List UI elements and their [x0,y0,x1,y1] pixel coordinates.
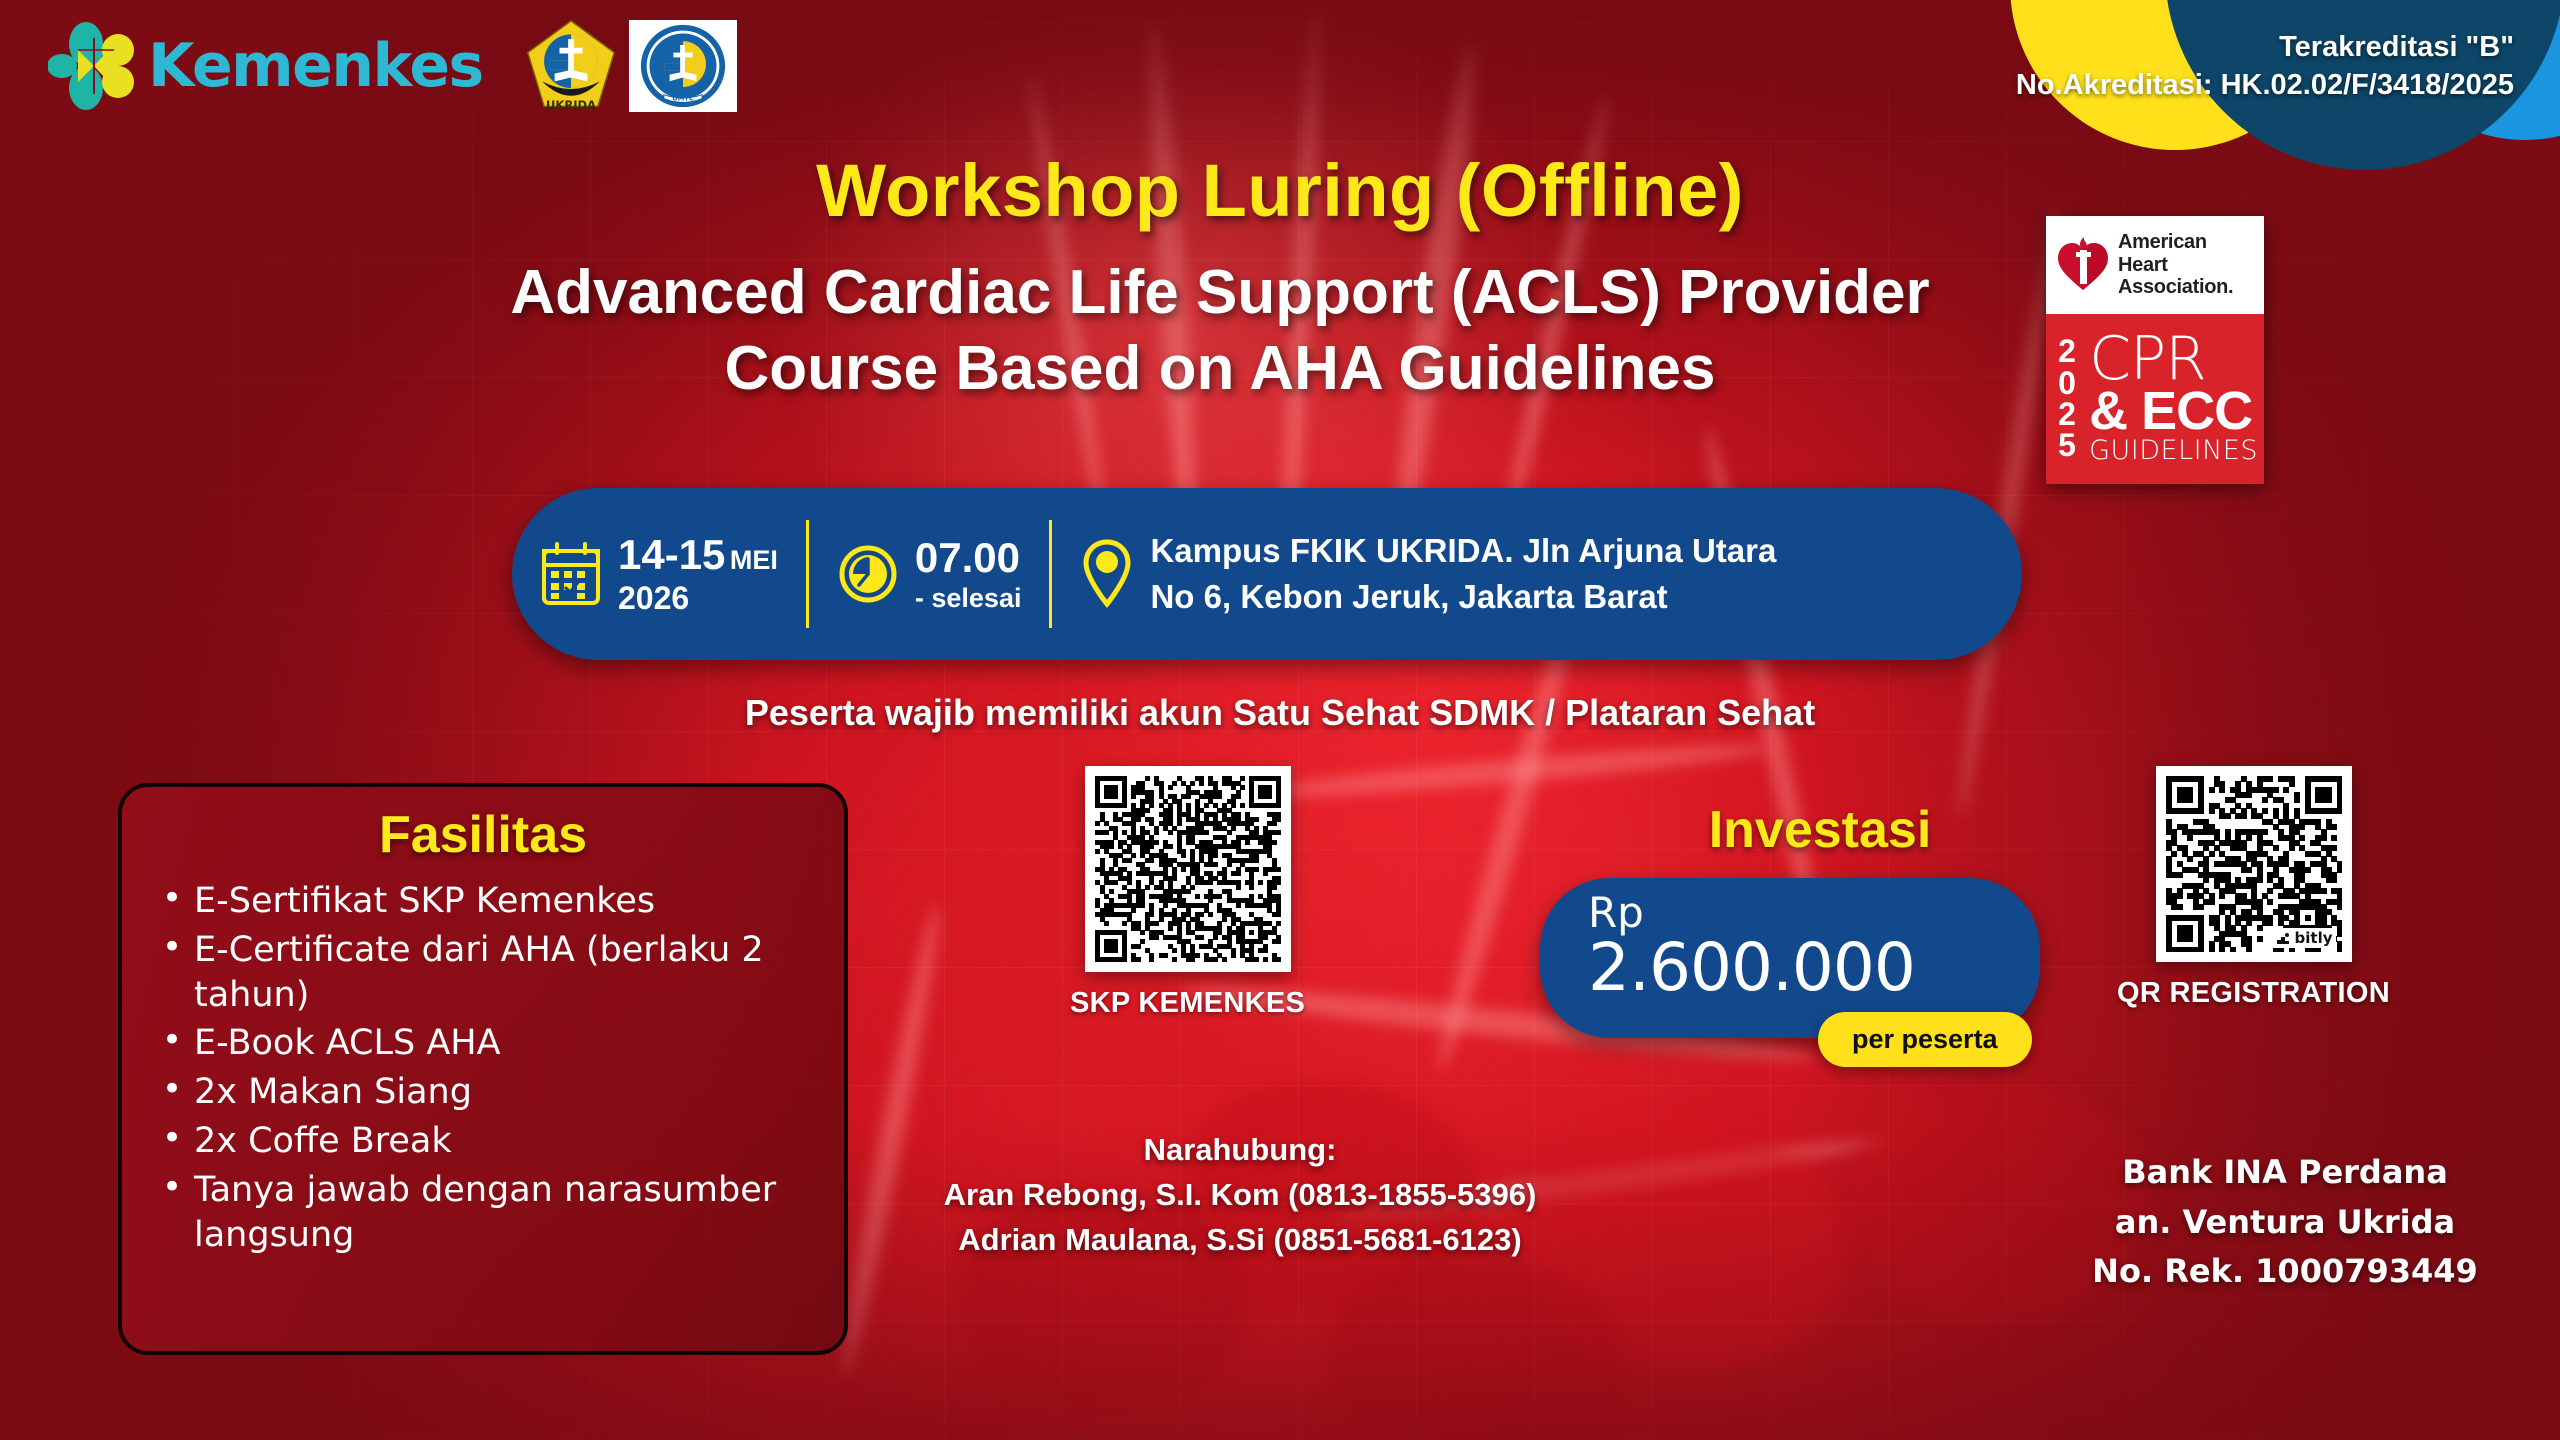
contact-heading: Narahubung: [860,1128,1620,1173]
aha-guidelines-body: 2025 CPR & ECC GUIDELINES [2046,314,2264,484]
date-month: MEI [730,545,778,575]
currency-label: Rp [1588,892,2040,934]
date-days: 14-15 [618,531,725,578]
list-item: Tanya jawab dengan narasumber langsung [148,1168,818,1258]
bank-details: Bank INA Perdana an. Ventura Ukrida No. … [2050,1148,2520,1297]
bitly-logo-icon [2276,932,2292,945]
venue-line-2: No 6, Kebon Jeruk, Jakarta Barat [1150,574,1776,620]
time-segment: 07.00 - selesai [809,533,1050,614]
ukrida-logo-icon: UKRIDA [523,18,619,114]
price-amount: 2.600.000 [1588,934,2040,1003]
aha-guidelines-text: CPR & ECC GUIDELINES [2089,314,2264,484]
bitly-text: bitly [2295,929,2333,947]
accreditation-status: Terakreditasi "B" [2016,28,2514,66]
price-pill: Rp 2.600.000 per peserta [1540,878,2040,1038]
date-text: 14-15 MEI 2026 [618,530,778,617]
kemenkes-logo-icon [48,16,138,116]
bank-account-number: No. Rek. 1000793449 [2050,1247,2520,1297]
aha-org-line3: Association. [2118,276,2233,298]
venue-segment: Kampus FKIK UKRIDA. Jln Arjuna Utara No … [1052,528,1804,619]
logo-row: Kemenkes UKRIDA [48,16,737,116]
skp-qr-card[interactable] [1085,766,1291,972]
list-item: E-Book ACLS AHA [148,1021,818,1066]
participant-notice: Peserta wajib memiliki akun Satu Sehat S… [0,692,2560,734]
registration-qr-block: bitly QR REGISTRATION [2117,766,2390,1010]
contact-person-2: Adrian Maulana, S.Si (0851-5681-6123) [860,1218,1620,1263]
contact-block: Narahubung: Aran Rebong, S.I. Kom (0813-… [860,1128,1620,1263]
aha-guidelines-badge: American Heart Association. 2025 CPR & E… [2046,216,2264,484]
clock-icon [837,543,899,605]
aha-year-vertical: 2025 [2046,314,2089,484]
list-item: E-Certificate dari AHA (berlaku 2 tahun) [148,928,818,1018]
time-start: 07.00 [915,533,1022,583]
per-participant-badge: per peserta [1818,1012,2032,1067]
contact-person-1: Aran Rebong, S.I. Kom (0813-1855-5396) [860,1173,1620,1218]
venue-address: Kampus FKIK UKRIDA. Jln Arjuna Utara No … [1150,528,1776,619]
date-segment: 14-15 MEI 2026 [512,530,806,617]
skp-qr-label: SKP KEMENKES [1070,987,1305,1020]
aha-ecc-label: & ECC [2089,386,2258,437]
aha-logo-header: American Heart Association. [2046,216,2264,314]
accreditation-number: No.Akreditasi: HK.02.02/F/3418/2025 [2016,66,2514,104]
aha-org-line2: Heart [2118,254,2233,276]
list-item: E-Sertifikat SKP Kemenkes [148,879,818,924]
aha-cpr-label: CPR [2089,333,2258,386]
calendar-icon [540,541,602,607]
list-item: 2x Makan Siang [148,1070,818,1115]
title-line-1: Advanced Cardiac Life Support (ACLS) Pro… [180,255,2260,331]
aha-org-name: American Heart Association. [2118,231,2233,298]
venue-line-1: Kampus FKIK UKRIDA. Jln Arjuna Utara [1150,528,1776,574]
title-line-2: Course Based on AHA Guidelines [180,331,2260,407]
umtc-logo-icon: UMTC [629,20,737,112]
registration-qr-code[interactable] [2166,776,2342,952]
time-end: - selesai [915,583,1022,615]
aha-guidelines-label: GUIDELINES [2089,437,2258,465]
kemenkes-wordmark: Kemenkes [148,36,483,96]
investment-block: Investasi Rp 2.600.000 per peserta [1540,800,2100,1038]
location-pin-icon [1080,538,1134,610]
fasilitas-title: Fasilitas [148,805,818,865]
aha-org-line1: American [2118,231,2233,253]
event-info-bar: 14-15 MEI 2026 07.00 - selesai [512,488,2022,660]
bank-account-name: an. Ventura Ukrida [2050,1198,2520,1248]
investment-title: Investasi [1540,800,2100,860]
bitly-watermark: bitly [2273,928,2336,948]
date-year: 2026 [618,580,778,618]
registration-qr-label: QR REGISTRATION [2117,977,2390,1010]
poster-canvas: Kemenkes UKRIDA [0,0,2560,1440]
svg-text:UMTC: UMTC [672,94,694,102]
aha-heart-torch-icon [2056,236,2110,294]
skp-qr-code[interactable] [1095,776,1281,962]
skp-qr-block: SKP KEMENKES [1070,766,1305,1020]
accreditation-block: Terakreditasi "B" No.Akreditasi: HK.02.0… [2016,28,2514,105]
list-item: 2x Coffe Break [148,1119,818,1164]
svg-text:UKRIDA: UKRIDA [546,98,596,112]
time-text: 07.00 - selesai [915,533,1022,614]
fasilitas-panel: Fasilitas E-Sertifikat SKP Kemenkes E-Ce… [118,783,848,1355]
fasilitas-list: E-Sertifikat SKP Kemenkes E-Certificate … [148,879,818,1257]
registration-qr-card[interactable]: bitly [2156,766,2352,962]
bank-name: Bank INA Perdana [2050,1148,2520,1198]
